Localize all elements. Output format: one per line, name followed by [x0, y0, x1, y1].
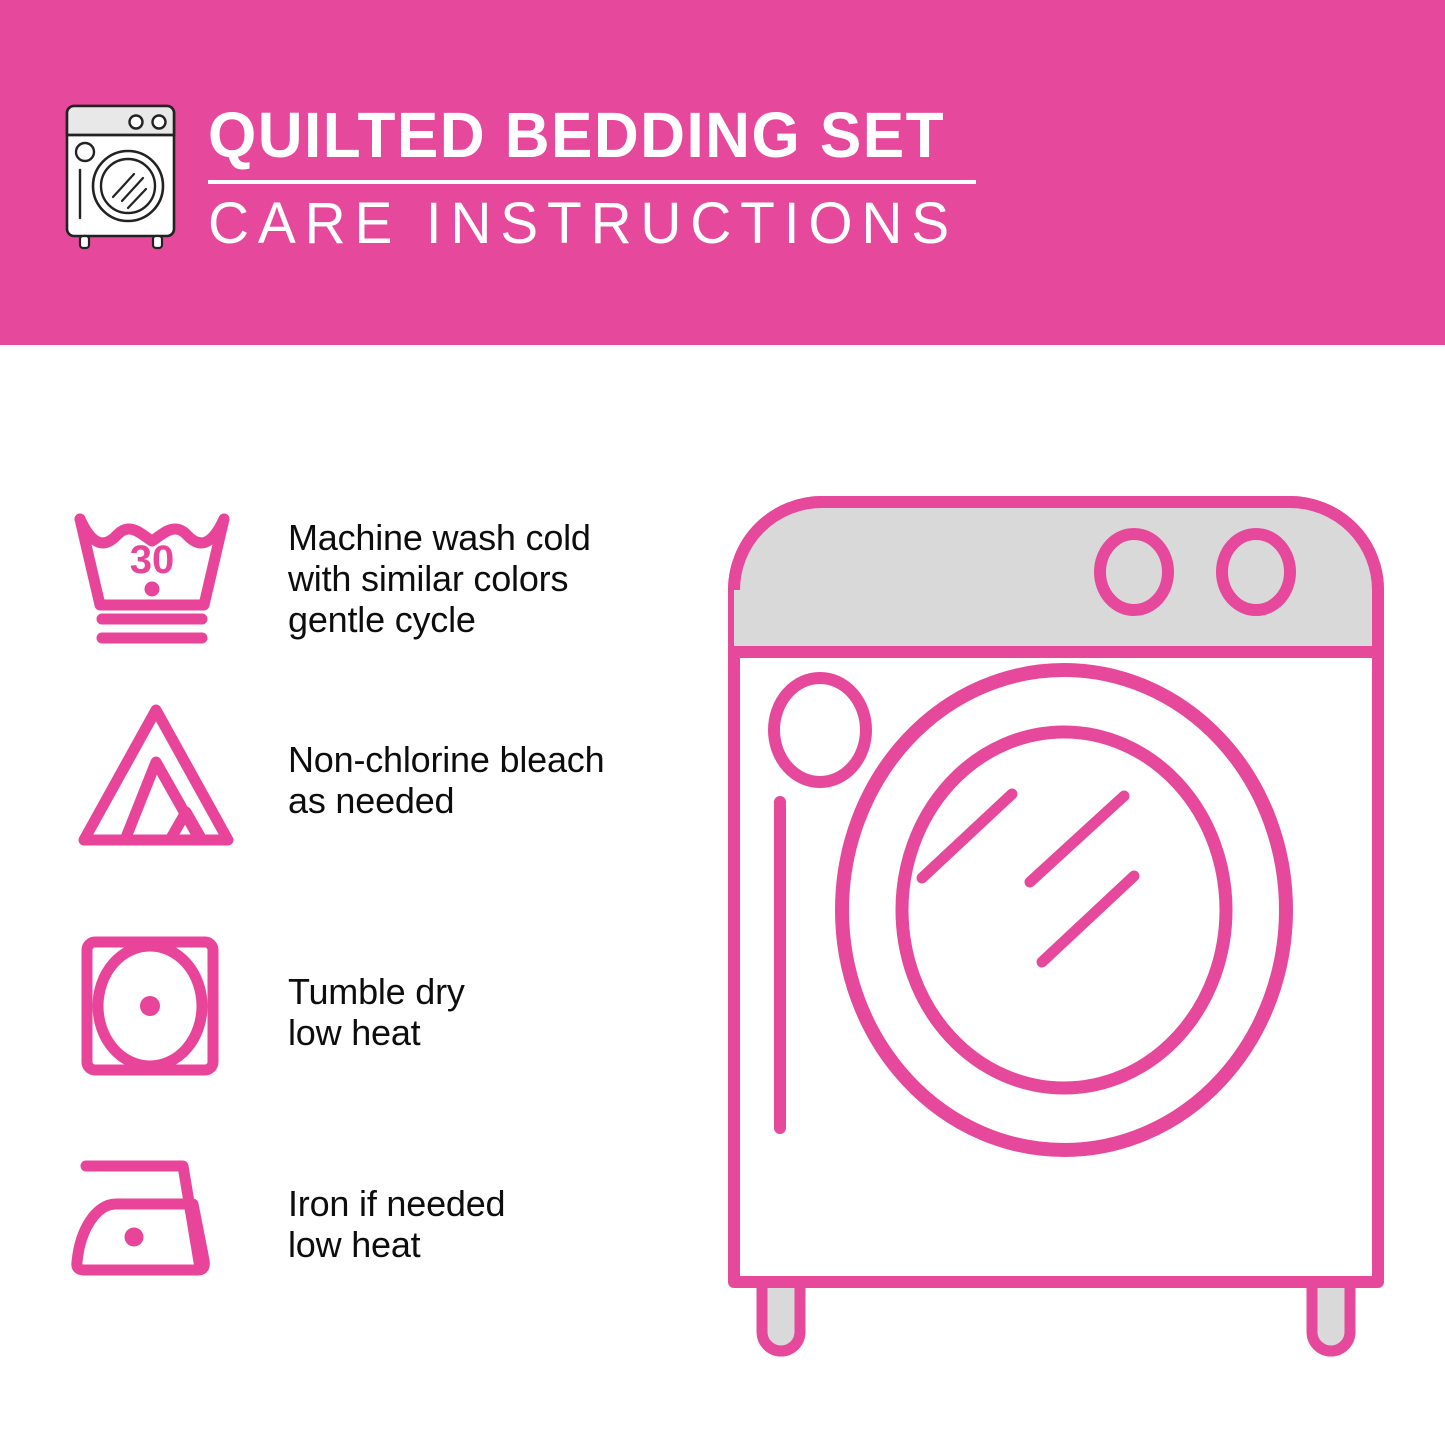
page-subtitle: CARE INSTRUCTIONS: [208, 192, 968, 256]
care-line: low heat: [288, 1012, 465, 1053]
care-row-bleach: Non-chlorine bleach as needed: [0, 700, 700, 900]
care-line: with similar colors: [288, 558, 591, 599]
care-line: as needed: [288, 780, 604, 821]
care-line: Iron if needed: [288, 1183, 505, 1224]
indicator-dial: [774, 678, 866, 782]
care-line: Non-chlorine bleach: [288, 739, 604, 780]
care-line: Machine wash cold: [288, 517, 591, 558]
control-knob-right: [1222, 534, 1290, 610]
care-text-tumble-dry: Tumble dry low heat: [288, 971, 465, 1053]
care-text-machine-wash: Machine wash cold with similar colors ge…: [288, 517, 591, 640]
care-row-tumble-dry: Tumble dry low heat: [0, 935, 700, 1135]
washing-machine-icon: [58, 98, 193, 250]
iron-low-heat-icon: [68, 1150, 243, 1290]
wash-tub-30-icon: 30: [72, 505, 232, 650]
header-band: QUILTED BEDDING SET CARE INSTRUCTIONS: [0, 0, 1445, 345]
door-inner-ring: [902, 732, 1226, 1088]
control-knob-left: [1100, 534, 1168, 610]
svg-text:30: 30: [130, 538, 175, 582]
care-row-machine-wash: 30 Machine wash cold with similar colors…: [0, 500, 700, 700]
machine-legs: [762, 1280, 1350, 1351]
header-divider: [208, 180, 976, 184]
care-instructions-infographic: QUILTED BEDDING SET CARE INSTRUCTIONS 30: [0, 0, 1445, 1445]
care-line: gentle cycle: [288, 599, 591, 640]
header-text-block: QUILTED BEDDING SET CARE INSTRUCTIONS: [208, 100, 983, 256]
front-load-washing-machine-illustration: [712, 480, 1402, 1370]
non-chlorine-bleach-triangle-icon: [70, 700, 242, 852]
care-line: low heat: [288, 1224, 505, 1265]
page-title: QUILTED BEDDING SET: [208, 100, 960, 170]
care-line: Tumble dry: [288, 971, 465, 1012]
care-row-iron: Iron if needed low heat: [0, 1150, 700, 1350]
care-text-bleach: Non-chlorine bleach as needed: [288, 739, 604, 821]
tumble-dry-low-icon: [80, 935, 220, 1077]
care-text-iron: Iron if needed low heat: [288, 1183, 505, 1265]
